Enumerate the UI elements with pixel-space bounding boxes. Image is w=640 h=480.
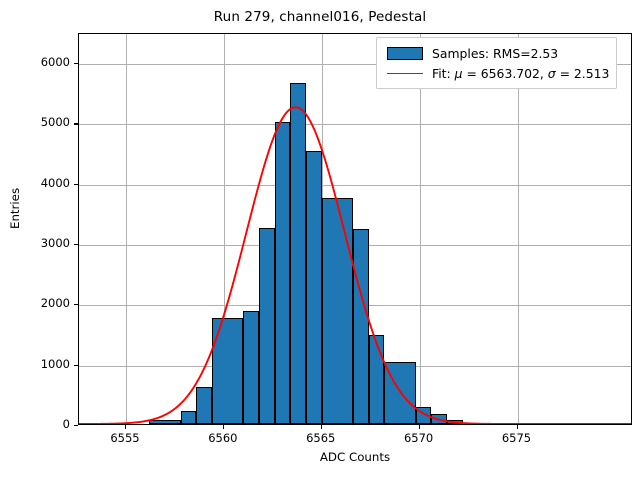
legend-label-samples: Samples: RMS=2.53 [427,46,558,61]
legend-item-samples: Samples: RMS=2.53 [383,43,609,63]
y-tick-mark [74,63,78,64]
y-tick-mark [74,184,78,185]
y-tick-label: 2000 [10,296,70,310]
y-tick-label: 5000 [10,115,70,129]
gaussian-fit-curve [79,34,631,424]
x-tick-label: 6570 [389,431,449,445]
x-tick-label: 6560 [193,431,253,445]
y-tick-mark [74,244,78,245]
x-tick-mark [321,425,322,429]
y-tick-label: 3000 [10,236,70,250]
y-tick-mark [74,304,78,305]
y-tick-mark [74,425,78,426]
page-title: Run 279, channel016, Pedestal [0,9,640,25]
line-swatch-icon [383,73,427,74]
legend-label-fit: Fit: μ = 6563.702, σ = 2.513 [427,66,609,81]
x-tick-mark [419,425,420,429]
y-axis-label: Entries [8,188,22,229]
x-tick-mark [517,425,518,429]
legend-item-fit: Fit: μ = 6563.702, σ = 2.513 [383,63,609,83]
y-tick-label: 0 [10,417,70,431]
bar-swatch-icon [383,47,427,60]
x-axis-label: ADC Counts [78,450,632,464]
x-tick-mark [223,425,224,429]
x-tick-label: 6565 [291,431,351,445]
x-tick-label: 6575 [487,431,547,445]
y-tick-label: 6000 [10,55,70,69]
x-tick-label: 6555 [95,431,155,445]
x-tick-mark [125,425,126,429]
legend: Samples: RMS=2.53 Fit: μ = 6563.702, σ =… [376,37,617,89]
fit-curve-path [79,107,631,424]
figure-canvas: Run 279, channel016, Pedestal 6555656065… [0,0,640,480]
y-tick-mark [74,365,78,366]
y-tick-mark [74,123,78,124]
y-tick-label: 1000 [10,357,70,371]
plot-area [78,33,632,425]
